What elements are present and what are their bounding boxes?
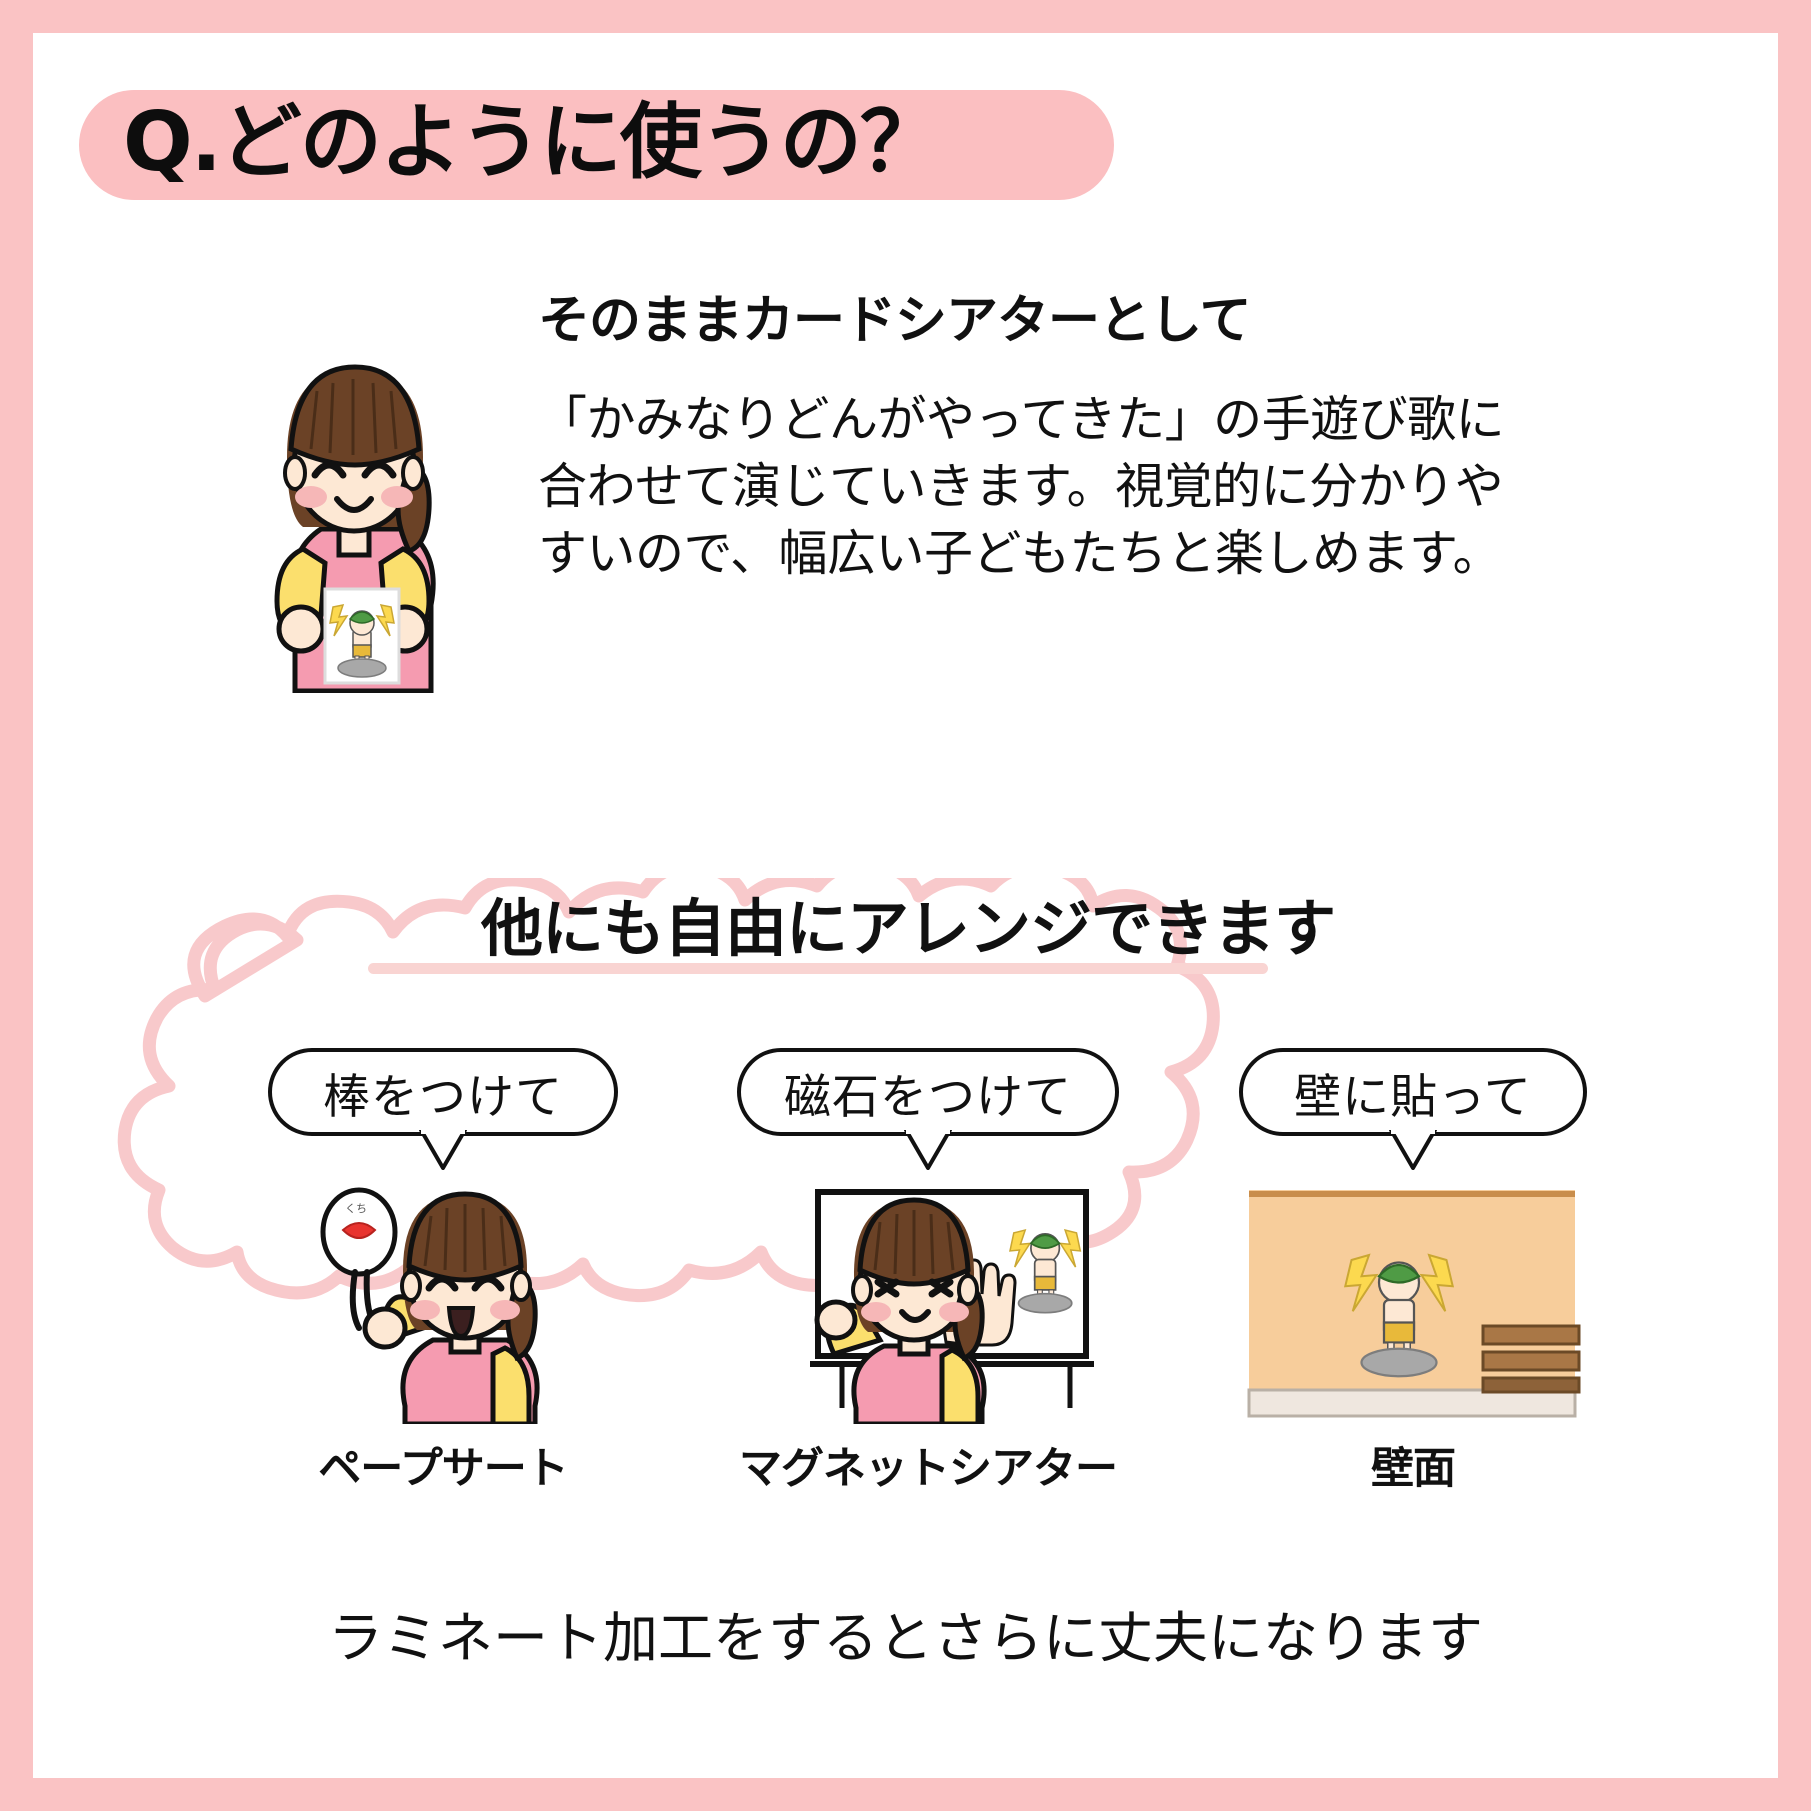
bubble-tail-space (233, 1136, 653, 1180)
teacher-holding-card-icon (233, 353, 493, 693)
arrange-card-wall: 壁に貼って (1203, 1048, 1623, 1496)
section-card-theater-text: そのままカードシアターとして 「かみなりどんがやってきた」の手遊び歌に 合わせて… (538, 278, 1568, 588)
bubble-wall: 壁に貼って (1239, 1048, 1587, 1136)
paragraph-line: すいので、幅広い子どもたちと楽しめます。 (538, 521, 1568, 588)
poster-canvas: Q.どのように使うの？ (33, 33, 1778, 1778)
arrange-heading-label: 他にも自由にアレンジできます (481, 892, 1335, 965)
bubble-magnet: 磁石をつけて (737, 1048, 1119, 1136)
arrange-card-caption: 壁面 (1203, 1434, 1623, 1496)
arrange-card-pepesart: 棒をつけて くち (233, 1048, 653, 1496)
footnote-text: ラミネート加工をするとさらに丈夫になります (33, 1593, 1778, 1673)
bubble-stick: 棒をつけて (268, 1048, 618, 1136)
bubble-tail-space (1203, 1136, 1623, 1180)
poster-root: Q.どのように使うの？ (0, 0, 1811, 1811)
paragraph-line: 合わせて演じていきます。視覚的に分かりや (538, 454, 1568, 521)
card-taped-on-wall-icon (1243, 1186, 1583, 1424)
arrange-card-list: 棒をつけて くち (233, 1048, 1623, 1496)
arrange-card-caption: マグネットシアター (718, 1434, 1138, 1496)
bubble-stick-label: 棒をつけて (323, 1058, 563, 1127)
teacher-at-magnet-whiteboard-icon: て (758, 1186, 1098, 1424)
teacher-with-paper-puppet-stick-icon: くち (273, 1186, 613, 1424)
section-card-theater: そのままカードシアターとして 「かみなりどんがやってきた」の手遊び歌に 合わせて… (183, 278, 1663, 678)
paragraph-line: 「かみなりどんがやってきた」の手遊び歌に (538, 387, 1568, 454)
section-card-theater-title: そのままカードシアターとして (538, 278, 1568, 353)
bubble-tail-space (718, 1136, 1138, 1180)
bubble-wall-label: 壁に貼って (1294, 1058, 1532, 1127)
svg-text:くち: くち (345, 1202, 367, 1215)
bubble-magnet-label: 磁石をつけて (784, 1058, 1072, 1127)
arrange-heading: 他にも自由にアレンジできます (93, 878, 1723, 968)
arrange-card-magnet: 磁石をつけて (718, 1048, 1138, 1496)
arrange-card-caption: ペープサート (233, 1434, 653, 1496)
question-badge-label: Q.どのように使うの？ (79, 102, 940, 184)
arrange-section: 他にも自由にアレンジできます 棒をつけて (93, 878, 1723, 1578)
question-badge: Q.どのように使うの？ (79, 90, 1114, 200)
section-card-theater-paragraph: 「かみなりどんがやってきた」の手遊び歌に 合わせて演じていきます。視覚的に分かり… (538, 387, 1568, 588)
